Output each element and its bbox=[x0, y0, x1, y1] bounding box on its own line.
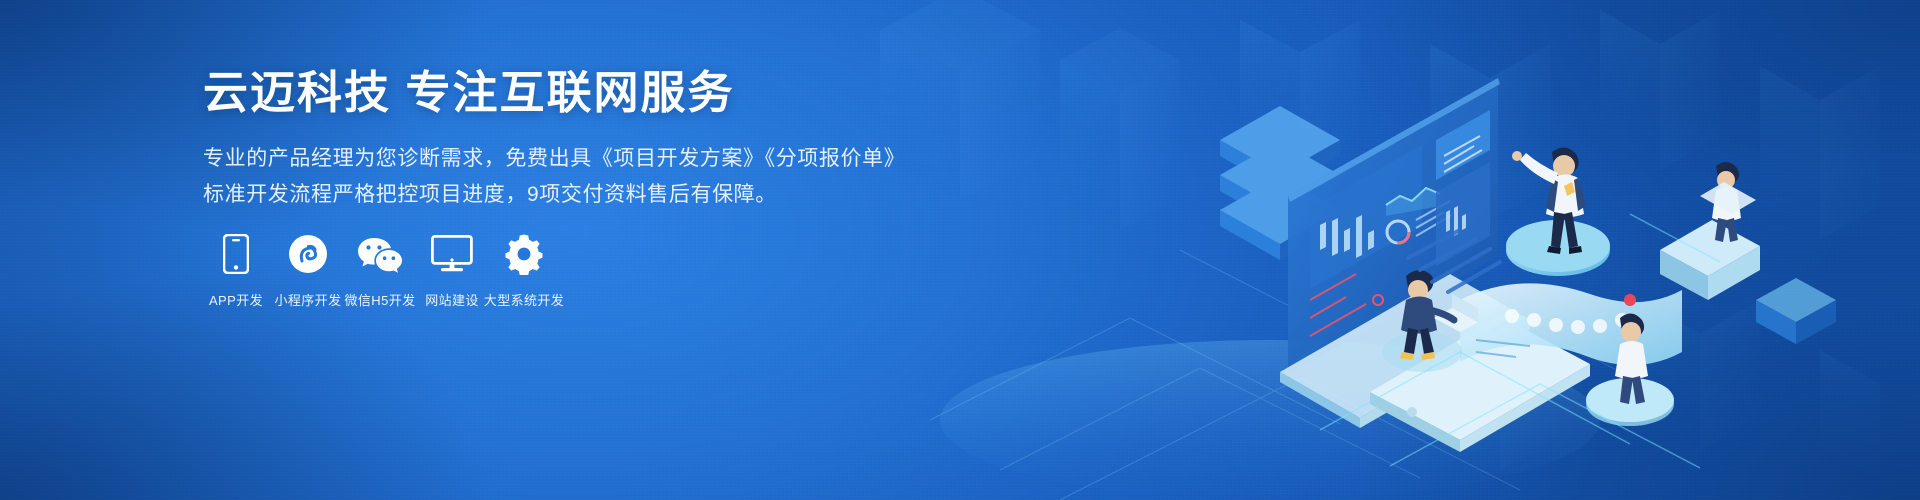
service-label-miniprogram: 小程序开发 bbox=[274, 290, 341, 309]
hero-illustration bbox=[1160, 0, 1920, 500]
person-pointing bbox=[1506, 147, 1610, 276]
service-item-app[interactable]: APP开发 bbox=[200, 232, 272, 309]
isometric-technology-illustration bbox=[1160, 0, 1920, 500]
service-icon-row: APP开发 小程序开发 bbox=[200, 232, 560, 309]
mini-program-icon bbox=[288, 232, 328, 276]
service-item-wechat[interactable]: 微信H5开发 bbox=[344, 232, 416, 309]
service-label-website: 网站建设 bbox=[425, 290, 479, 309]
page-title: 云迈科技 专注互联网服务 bbox=[203, 66, 923, 120]
service-item-system[interactable]: 大型系统开发 bbox=[488, 232, 560, 309]
hero-banner: 云迈科技 专注互联网服务 专业的产品经理为您诊断需求，免费出具《项目开发方案》《… bbox=[0, 0, 1920, 500]
subtitle-line-1: 专业的产品经理为您诊断需求，免费出具《项目开发方案》《分项报价单》 bbox=[203, 142, 923, 176]
gear-icon bbox=[503, 232, 545, 276]
hero-copy: 云迈科技 专注互联网服务 专业的产品经理为您诊断需求，免费出具《项目开发方案》《… bbox=[203, 66, 923, 212]
service-label-app: APP开发 bbox=[209, 290, 263, 309]
person-seated bbox=[1660, 162, 1760, 300]
wechat-icon bbox=[357, 232, 403, 276]
subtitle-line-2: 标准开发流程严格把控项目进度，9项交付资料售后有保障。 bbox=[203, 178, 923, 212]
service-item-website[interactable]: 网站建设 bbox=[416, 232, 488, 309]
monitor-icon bbox=[431, 232, 473, 276]
service-label-system: 大型系统开发 bbox=[484, 290, 564, 309]
service-item-miniprogram[interactable]: 小程序开发 bbox=[272, 232, 344, 309]
service-label-wechat: 微信H5开发 bbox=[344, 290, 415, 309]
floating-blocks bbox=[1756, 278, 1836, 344]
mobile-phone-icon bbox=[223, 232, 249, 276]
